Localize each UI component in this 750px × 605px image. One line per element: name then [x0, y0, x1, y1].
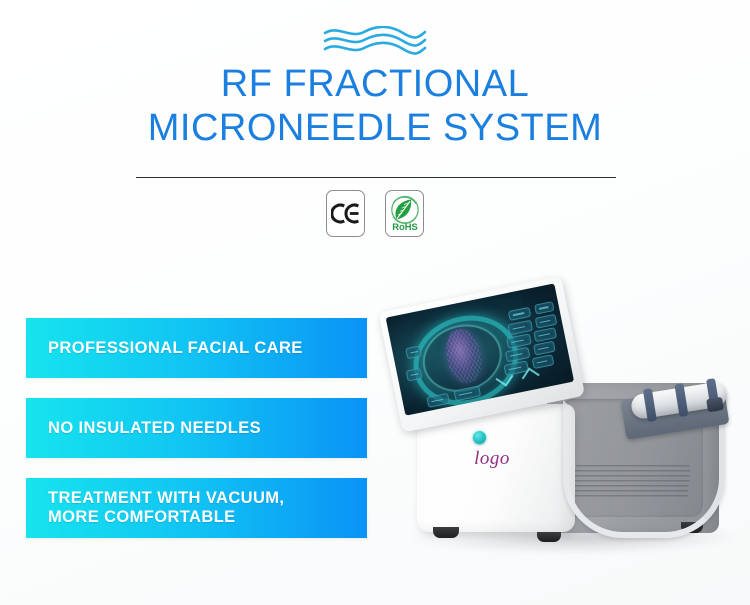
machine-foot: [433, 527, 459, 538]
feature-banner-treatment-with-vacuum: TREATMENT WITH VACUUM, MORE COMFORTABLE: [26, 478, 367, 538]
machine-foot: [537, 531, 561, 542]
screen-button[interactable]: [533, 341, 556, 356]
product-banner-image: RF FRACTIONAL MICRONEEDLE SYSTEM: [0, 0, 750, 605]
screen-button[interactable]: [533, 327, 557, 342]
page-title: RF FRACTIONAL MICRONEEDLE SYSTEM: [0, 62, 750, 150]
title-divider: [136, 177, 616, 178]
feature-banner-professional-facial-care: PROFESSIONAL FACIAL CARE: [26, 318, 367, 378]
handpiece-connector: [706, 397, 724, 412]
title-line-1: RF FRACTIONAL: [0, 62, 750, 106]
ce-icon: [331, 202, 361, 225]
feature-banner-label: PROFESSIONAL FACIAL CARE: [26, 339, 303, 358]
title-line-2: MICRONEEDLE SYSTEM: [0, 106, 750, 150]
rohs-leaf-icon: RoHS: [388, 194, 422, 234]
rohs-label: RoHS: [392, 222, 417, 232]
power-button[interactable]: [473, 431, 486, 444]
screen-button[interactable]: [535, 314, 558, 329]
machine-logo: logo: [447, 448, 537, 470]
product-machine-illustration: logo: [395, 288, 750, 568]
rohs-mark-badge: RoHS: [385, 190, 424, 237]
handpiece-strap: [643, 388, 657, 422]
ce-mark-badge: [326, 190, 365, 237]
feature-banner-no-insulated-needles: NO INSULATED NEEDLES: [26, 398, 367, 458]
header-section: RF FRACTIONAL MICRONEEDLE SYSTEM: [0, 0, 750, 250]
feature-banner-label: NO INSULATED NEEDLES: [26, 419, 261, 438]
screen-button[interactable]: [532, 354, 555, 369]
screen-button[interactable]: [507, 320, 533, 336]
screen-button[interactable]: [508, 307, 532, 321]
handpiece-strap: [674, 383, 688, 417]
certification-badges: RoHS: [0, 190, 750, 237]
feature-banner-label: TREATMENT WITH VACUUM, MORE COMFORTABLE: [26, 489, 284, 527]
wave-lines-icon: [321, 26, 429, 56]
screen-button[interactable]: [534, 301, 555, 315]
